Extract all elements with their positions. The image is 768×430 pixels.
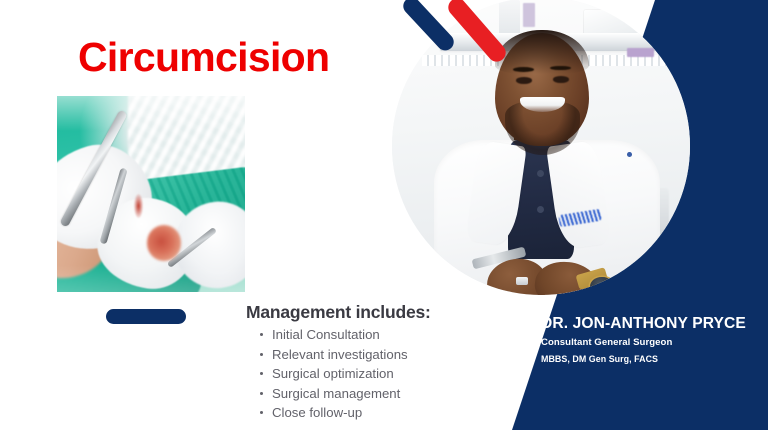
doctor-info-block: DR. JON-ANTHONY PRYCE Consultant General… xyxy=(541,316,761,364)
list-item: Surgical management xyxy=(260,384,482,404)
photo-bottom-highlight xyxy=(57,265,245,292)
portrait-pocket-pen xyxy=(627,152,632,157)
portrait-shirt-button-top xyxy=(537,170,544,177)
portrait-shelf-bottle xyxy=(499,0,520,36)
portrait-eye-left xyxy=(516,77,532,84)
slide-canvas: Circumcision xyxy=(0,0,768,430)
photo-surgical-site xyxy=(147,225,181,260)
portrait-shirt-button-bottom xyxy=(537,206,544,213)
list-item: Relevant investigations xyxy=(260,345,482,365)
doctor-credentials: MBBS, DM Gen Surg, FACS xyxy=(541,354,761,364)
surgical-procedure-photo xyxy=(57,96,245,292)
list-item: Initial Consultation xyxy=(260,325,482,345)
portrait-shelf-marker xyxy=(627,48,654,57)
portrait-ring xyxy=(516,277,528,285)
doctor-role: Consultant General Surgeon xyxy=(541,337,761,348)
management-list: Initial Consultation Relevant investigat… xyxy=(246,325,482,423)
doctor-name: DR. JON-ANTHONY PRYCE xyxy=(541,316,761,333)
list-item: Close follow-up xyxy=(260,403,482,423)
portrait-eyebrow-left xyxy=(513,67,534,72)
page-title: Circumcision xyxy=(78,36,329,79)
management-heading: Management includes: xyxy=(246,302,482,323)
management-section: Management includes: Initial Consultatio… xyxy=(246,302,482,423)
navy-pill-accent xyxy=(106,309,186,324)
portrait-watch-face xyxy=(590,277,614,295)
portrait-shelf-label xyxy=(523,3,535,27)
photo-top-highlight xyxy=(57,96,245,131)
list-item: Surgical optimization xyxy=(260,364,482,384)
portrait-eye-right xyxy=(553,76,569,83)
